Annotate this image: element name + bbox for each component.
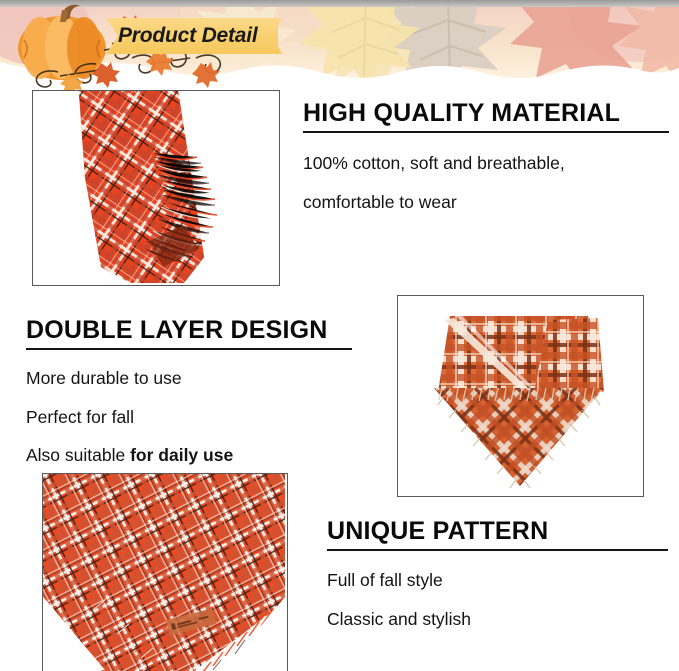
section-unique-pattern: UNIQUE PATTERN Full of fall style Classi… xyxy=(327,518,672,628)
section-line: Perfect for fall xyxy=(26,409,356,427)
plaid-shawl-illustration xyxy=(398,296,641,494)
section-heading: UNIQUE PATTERN xyxy=(327,518,672,544)
section-line: comfortable to wear xyxy=(303,194,673,212)
section-heading: HIGH QUALITY MATERIAL xyxy=(303,100,673,126)
section-double-layer-design: DOUBLE LAYER DESIGN More durable to use … xyxy=(26,317,356,465)
heading-underline xyxy=(303,131,669,133)
plaid-scarf-fringe-illustration xyxy=(33,91,277,283)
product-image-folded-shawl xyxy=(397,295,644,497)
section-line: Full of fall style xyxy=(327,572,672,590)
plaid-fabric-detail-illustration xyxy=(43,474,285,671)
section-line-emphasis: for daily use xyxy=(130,445,233,465)
section-line: 100% cotton, soft and breathable, xyxy=(303,155,673,173)
product-image-scarf-fringe xyxy=(32,90,280,286)
page-title: Product Detail xyxy=(118,20,278,52)
section-line: Also suitable for daily use xyxy=(26,447,356,465)
heading-underline xyxy=(26,348,352,350)
section-line: More durable to use xyxy=(26,370,356,388)
section-high-quality-material: HIGH QUALITY MATERIAL 100% cotton, soft … xyxy=(303,100,673,211)
section-line: Classic and stylish xyxy=(327,611,672,629)
heading-underline xyxy=(327,549,668,551)
header-banner: Product Detail xyxy=(0,0,679,92)
section-line-plain: Also suitable xyxy=(26,445,130,465)
section-heading: DOUBLE LAYER DESIGN xyxy=(26,317,356,343)
product-image-fabric-detail xyxy=(42,473,288,671)
product-detail-page: Product Detail xyxy=(0,0,679,671)
